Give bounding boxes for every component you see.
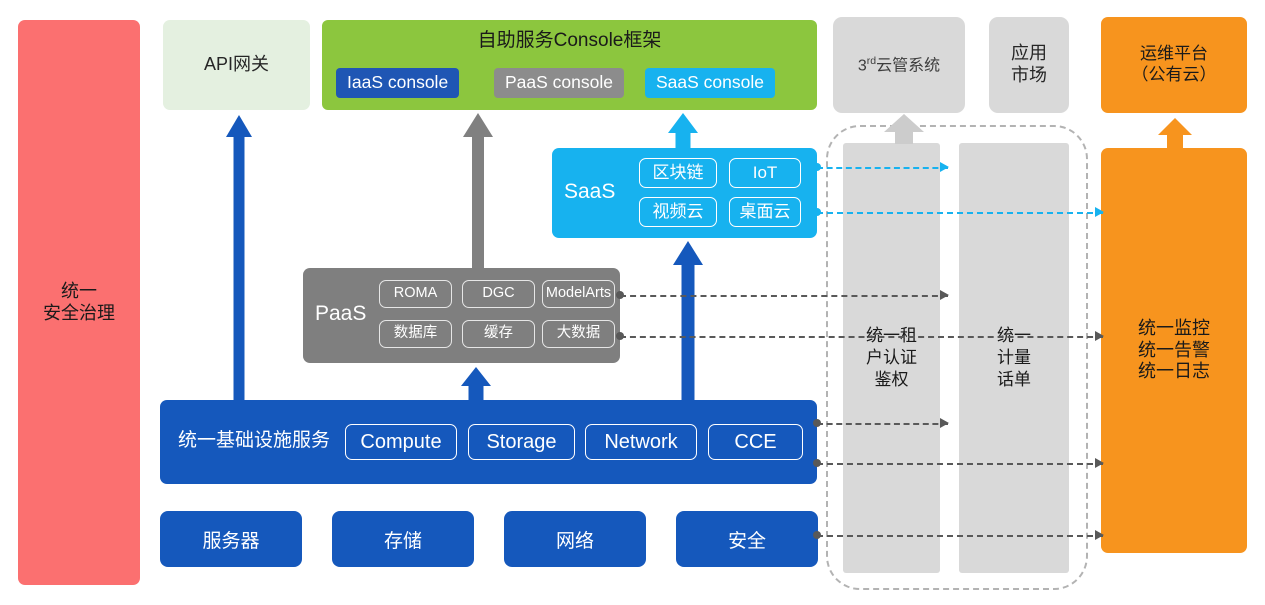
api-gateway-box[interactable]: API网关 — [163, 20, 310, 110]
hardware-network-box[interactable]: 网络 — [504, 511, 646, 567]
paas-service-roma[interactable]: ROMA — [379, 280, 452, 308]
third-party-cloud-mgmt-label: 3rd云管系统 — [858, 55, 940, 76]
hardware-label: 服务器 — [202, 526, 259, 553]
paas-service-label: 缓存 — [484, 325, 513, 343]
metering-line3: 话单 — [997, 369, 1031, 391]
saas-service-iot[interactable]: IoT — [729, 158, 801, 188]
paas-service-cache[interactable]: 缓存 — [462, 320, 535, 348]
app-market-label: 应用 市场 — [1011, 43, 1047, 87]
hardware-label: 存储 — [384, 526, 422, 553]
paas-block-label: PaaS — [315, 301, 366, 327]
hardware-label: 安全 — [728, 526, 766, 553]
auth-line3: 鉴权 — [866, 369, 917, 391]
infra-service-label: Compute — [360, 430, 441, 454]
security-governance-line2: 安全治理 — [43, 303, 115, 325]
saas-service-video-cloud[interactable]: 视频云 — [639, 197, 717, 227]
api-gateway-label: API网关 — [204, 54, 269, 76]
unified-metering-column[interactable]: 统一 计量 话单 — [959, 143, 1069, 573]
ops-monitor-line: 统一监控 — [1138, 318, 1210, 340]
saas-service-label: 区块链 — [653, 163, 704, 184]
architecture-diagram: 统一 安全治理 API网关 自助服务Console框架 IaaS console… — [0, 0, 1265, 605]
paas-service-label: 大数据 — [557, 325, 601, 343]
paas-console-label: PaaS console — [505, 72, 613, 93]
saas-console-label: SaaS console — [656, 72, 764, 93]
ops-platform-panel[interactable]: 统一监控 统一告警 统一日志 — [1101, 148, 1247, 553]
ops-platform-header-label: 运维平台 （公有云） — [1132, 44, 1217, 85]
saas-service-label: IoT — [753, 163, 778, 184]
paas-service-label: ROMA — [394, 285, 438, 303]
unified-infrastructure-bar[interactable]: 统一基础设施服务 Compute Storage Network CCE — [160, 400, 817, 484]
hardware-server-box[interactable]: 服务器 — [160, 511, 302, 567]
paas-service-dgc[interactable]: DGC — [462, 280, 535, 308]
security-governance-label: 统一 安全治理 — [43, 281, 115, 325]
unified-infrastructure-label: 统一基础设施服务 — [178, 429, 330, 452]
infra-service-cce[interactable]: CCE — [708, 424, 803, 460]
saas-service-blockchain[interactable]: 区块链 — [639, 158, 717, 188]
paas-service-modelarts[interactable]: ModelArts — [542, 280, 615, 308]
infra-service-network[interactable]: Network — [585, 424, 697, 460]
console-framework-title: 自助服务Console框架 — [322, 29, 817, 52]
infra-service-compute[interactable]: Compute — [345, 424, 457, 460]
paas-service-label: 数据库 — [394, 325, 438, 343]
ops-platform-header-box[interactable]: 运维平台 （公有云） — [1101, 17, 1247, 113]
saas-service-label: 桌面云 — [740, 202, 791, 223]
arrow-common-to-third-party — [884, 114, 924, 144]
auth-line2: 户认证 — [866, 347, 917, 369]
arrow-saas-to-saas-console — [668, 113, 698, 151]
arrow-paas-to-paas-console — [463, 113, 493, 268]
saas-block[interactable]: SaaS 区块链 IoT 视频云 桌面云 — [552, 148, 817, 238]
paas-service-bigdata[interactable]: 大数据 — [542, 320, 615, 348]
arrow-infra-to-paas — [461, 367, 491, 402]
paas-service-label: DGC — [482, 285, 514, 303]
saas-service-label: 视频云 — [653, 202, 704, 223]
security-governance-pillar[interactable]: 统一 安全治理 — [18, 20, 140, 585]
ops-log-line: 统一日志 — [1138, 361, 1210, 383]
hardware-security-box[interactable]: 安全 — [676, 511, 818, 567]
infra-service-storage[interactable]: Storage — [468, 424, 575, 460]
console-framework-box[interactable]: 自助服务Console框架 IaaS console PaaS console … — [322, 20, 817, 110]
infra-service-label: Network — [604, 430, 677, 454]
ops-platform-panel-label: 统一监控 统一告警 统一日志 — [1138, 318, 1210, 384]
third-party-prefix: 3 — [858, 57, 867, 74]
hardware-label: 网络 — [556, 526, 594, 553]
arrow-ops-panel-to-ops-header — [1158, 118, 1192, 150]
iaas-console-chip[interactable]: IaaS console — [336, 68, 459, 98]
paas-service-label: ModelArts — [546, 285, 611, 303]
security-governance-line1: 统一 — [43, 281, 115, 303]
app-market-line2: 市场 — [1011, 65, 1047, 87]
saas-console-chip[interactable]: SaaS console — [645, 68, 775, 98]
paas-console-chip[interactable]: PaaS console — [494, 68, 624, 98]
app-market-line1: 应用 — [1011, 43, 1047, 65]
infra-service-label: CCE — [734, 430, 776, 454]
third-party-cloud-mgmt-box[interactable]: 3rd云管系统 — [833, 17, 965, 113]
unified-tenant-auth-column[interactable]: 统一租 户认证 鉴权 — [843, 143, 940, 573]
paas-block[interactable]: PaaS ROMA DGC ModelArts 数据库 缓存 大数据 — [303, 268, 620, 363]
ops-platform-line1: 运维平台 — [1132, 44, 1217, 65]
infra-service-label: Storage — [486, 430, 556, 454]
third-party-superscript: rd — [867, 55, 876, 67]
paas-service-database[interactable]: 数据库 — [379, 320, 452, 348]
saas-service-desktop-cloud[interactable]: 桌面云 — [729, 197, 801, 227]
app-market-box[interactable]: 应用 市场 — [989, 17, 1069, 113]
hardware-storage-box[interactable]: 存储 — [332, 511, 474, 567]
third-party-suffix: 云管系统 — [876, 57, 940, 74]
arrow-infra-to-api-gateway — [226, 115, 252, 400]
saas-block-label: SaaS — [564, 179, 615, 205]
iaas-console-label: IaaS console — [347, 72, 448, 93]
ops-alarm-line: 统一告警 — [1138, 340, 1210, 362]
ops-platform-line2: （公有云） — [1132, 65, 1217, 86]
arrow-infra-to-saas — [673, 241, 703, 402]
metering-line2: 计量 — [997, 347, 1031, 369]
